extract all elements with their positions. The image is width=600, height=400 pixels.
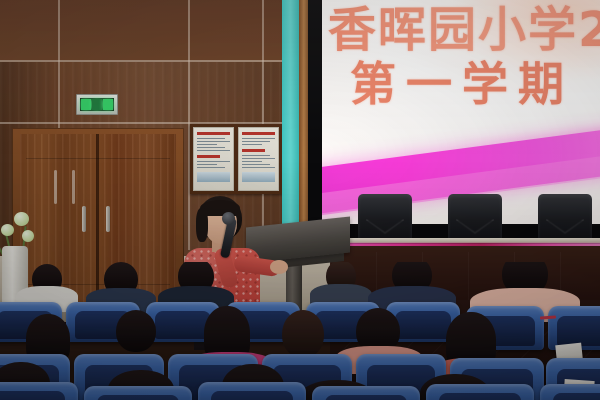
flower-bloom xyxy=(22,230,34,242)
flower-bloom xyxy=(1,224,14,236)
audience-chair[interactable] xyxy=(426,384,534,400)
poster-subheading xyxy=(197,155,220,158)
audience-chair[interactable] xyxy=(312,386,420,400)
poster-heading xyxy=(197,132,230,135)
emergency-exit-icon xyxy=(76,94,118,115)
stage-chair[interactable] xyxy=(448,194,502,240)
audience-head xyxy=(282,310,324,358)
exit-sign-cell xyxy=(92,99,102,110)
door-vertical-trim xyxy=(54,170,57,204)
wall-grout-line xyxy=(0,60,330,62)
poster-image xyxy=(242,172,275,182)
exit-sign-cell xyxy=(103,99,113,110)
notice-poster xyxy=(238,127,279,191)
stage-chair[interactable] xyxy=(538,194,592,240)
poster-image xyxy=(197,172,230,182)
notice-poster xyxy=(193,127,234,191)
poster-heading xyxy=(242,132,275,135)
audience-area xyxy=(0,262,600,400)
presenter-hair-side xyxy=(196,208,208,242)
stage-chair[interactable] xyxy=(358,194,412,240)
screen-headline-line2: 第一学期 xyxy=(350,48,574,114)
exit-sign-cell xyxy=(81,99,91,110)
flower-bloom xyxy=(14,212,29,226)
door-handle-icon[interactable] xyxy=(82,206,86,232)
exit-sign-panel xyxy=(80,98,114,111)
wall-upper-band xyxy=(0,0,330,62)
audience-chair[interactable] xyxy=(540,384,600,400)
audience-chair[interactable] xyxy=(84,386,192,400)
stage-chair-group xyxy=(330,190,600,240)
poster-subheading xyxy=(242,149,265,152)
audience-chair[interactable] xyxy=(0,382,78,400)
auditorium-photo: 香晖园小学2 第一学期 xyxy=(0,0,600,400)
notice-board xyxy=(190,124,282,194)
door-vertical-trim xyxy=(72,170,75,204)
audience-head xyxy=(116,310,156,352)
audience-chair[interactable] xyxy=(198,382,306,400)
door-handle-icon[interactable] xyxy=(106,206,110,232)
